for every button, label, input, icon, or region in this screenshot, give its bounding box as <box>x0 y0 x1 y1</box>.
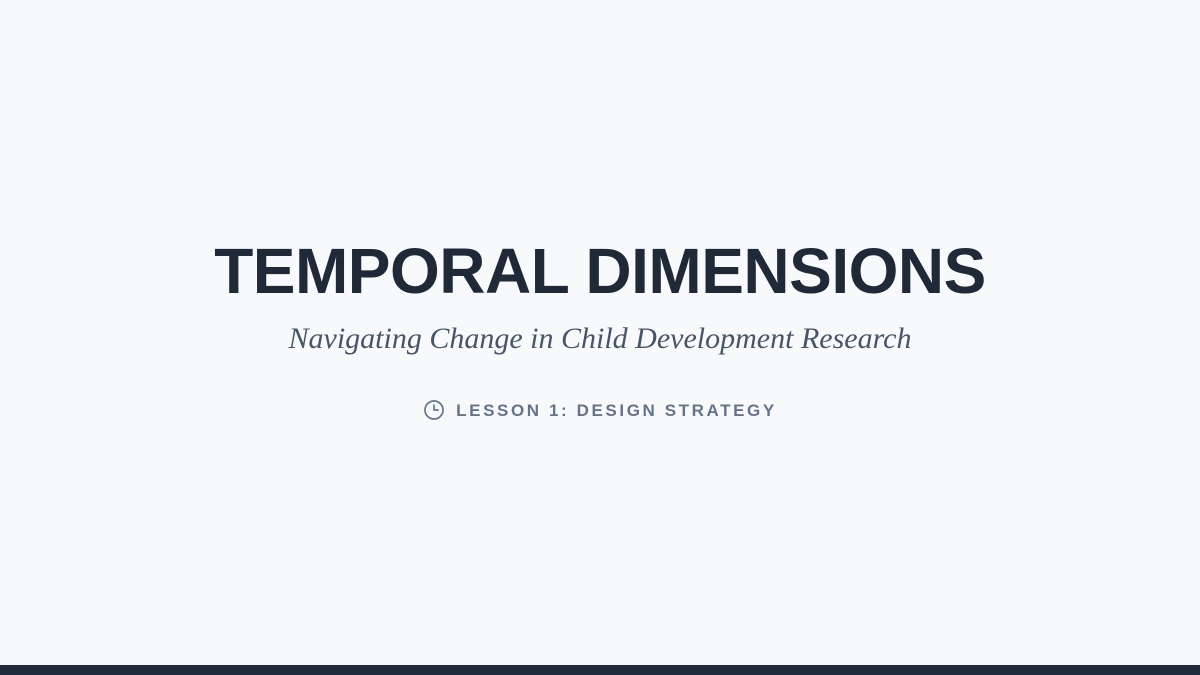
slide-subtitle: Navigating Change in Child Development R… <box>289 305 912 357</box>
lesson-badge: LESSON 1: DESIGN STRATEGY <box>423 357 777 421</box>
bottom-accent-bar <box>0 665 1200 675</box>
title-slide: TEMPORAL DIMENSIONS Navigating Change in… <box>0 0 1200 675</box>
clock-icon <box>423 399 445 421</box>
title-block: TEMPORAL DIMENSIONS Navigating Change in… <box>0 0 1200 665</box>
lesson-label: LESSON 1: DESIGN STRATEGY <box>456 402 777 419</box>
page-title: TEMPORAL DIMENSIONS <box>214 238 986 305</box>
